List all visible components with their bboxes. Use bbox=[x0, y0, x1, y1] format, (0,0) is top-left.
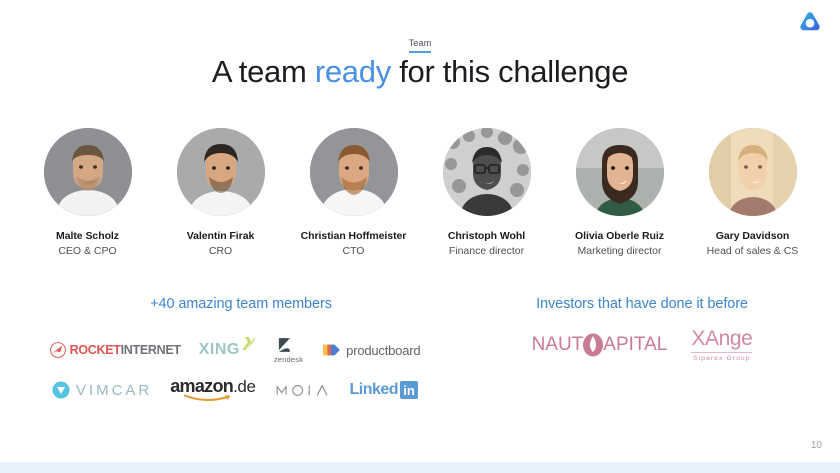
avatar-gary-davidson bbox=[709, 128, 797, 216]
page-title: A team ready for this challenge bbox=[0, 53, 840, 92]
amazon-label-b: .de bbox=[233, 377, 255, 396]
xing-logo-icon bbox=[241, 336, 256, 356]
lower-section: +40 amazing team members ROCKETINTERNET … bbox=[0, 296, 840, 410]
team-member-name: Malte Scholz bbox=[22, 229, 153, 243]
moia-logo-icon bbox=[274, 382, 332, 398]
slide-team: Team A team ready for this challenge Mal… bbox=[0, 0, 840, 473]
bottom-accent-band bbox=[0, 462, 840, 473]
logo-xange: XAnge Siparex Group bbox=[691, 328, 752, 362]
logo-linkedin: Linked in bbox=[350, 373, 419, 407]
eyebrow-wrapper: Team bbox=[0, 33, 840, 53]
headline-part-1: A team bbox=[212, 54, 315, 89]
avatar-christoph-wohl bbox=[443, 128, 531, 216]
investors-heading: Investors that have done it before bbox=[470, 296, 840, 312]
logo-amazon: amazon.de bbox=[170, 373, 255, 407]
rocket-internet-logo-icon bbox=[50, 342, 66, 358]
team-member-card: Gary Davidson Head of sales & CS bbox=[687, 128, 818, 258]
team-member-name: Gary Davidson bbox=[687, 229, 818, 243]
rocket-internet-label-b: INTERNET bbox=[121, 343, 181, 357]
team-member-card: Christoph Wohl Finance director bbox=[421, 128, 552, 258]
logo-zendesk: zendesk bbox=[274, 333, 303, 367]
team-member-role: Marketing director bbox=[554, 244, 685, 258]
logo-nauta-capital: NAUT APITAL bbox=[532, 333, 668, 357]
team-member-role: CTO bbox=[288, 244, 419, 258]
vimcar-label: VIMCAR bbox=[76, 382, 152, 399]
zendesk-label: zendesk bbox=[274, 355, 303, 364]
headline-part-2: for this challenge bbox=[391, 54, 628, 89]
avatar-olivia-oberle-ruiz bbox=[576, 128, 664, 216]
logo-xing: XING bbox=[199, 333, 256, 367]
team-member-name: Christoph Wohl bbox=[421, 229, 552, 243]
linkedin-label-a: Linked bbox=[350, 381, 399, 399]
logo-vimcar: VIMCAR bbox=[52, 373, 152, 407]
team-member-name: Christian Hoffmeister bbox=[288, 229, 419, 243]
linkedin-label-b: in bbox=[400, 381, 418, 399]
amazon-label-a: amazon bbox=[170, 376, 233, 396]
avatar-valentin-firak bbox=[177, 128, 265, 216]
zendesk-logo-icon bbox=[278, 337, 300, 354]
productboard-label: productboard bbox=[346, 343, 420, 358]
rocket-internet-label-a: ROCKET bbox=[70, 343, 121, 357]
triangle-circle-logo-icon bbox=[796, 8, 824, 36]
productboard-logo-icon bbox=[321, 342, 341, 358]
nauta-capital-label-a: NAUT bbox=[532, 334, 584, 356]
xing-label: XING bbox=[199, 341, 240, 359]
vimcar-logo-icon bbox=[52, 381, 70, 399]
nauta-capital-label-b: APITAL bbox=[603, 334, 667, 356]
team-members-column: +40 amazing team members ROCKETINTERNET … bbox=[0, 296, 470, 410]
team-member-card: Valentin Firak CRO bbox=[155, 128, 286, 258]
company-logo-grid: ROCKETINTERNET XING bbox=[0, 330, 470, 410]
headline-accent-word: ready bbox=[315, 54, 391, 89]
logo-productboard: productboard bbox=[321, 333, 420, 367]
team-member-role: Finance director bbox=[421, 244, 552, 258]
team-member-name: Olivia Oberle Ruiz bbox=[554, 229, 685, 243]
nauta-capital-mark-icon bbox=[582, 333, 604, 357]
investors-column: Investors that have done it before NAUT … bbox=[470, 296, 840, 410]
logo-rocket-internet: ROCKETINTERNET bbox=[50, 333, 181, 367]
team-member-row: Malte Scholz CEO & CPO Valentin Firak CR… bbox=[22, 128, 818, 258]
team-member-card: Christian Hoffmeister CTO bbox=[288, 128, 419, 258]
team-member-role: CRO bbox=[155, 244, 286, 258]
logo-moia bbox=[274, 373, 332, 407]
avatar-malte-scholz bbox=[44, 128, 132, 216]
team-member-card: Malte Scholz CEO & CPO bbox=[22, 128, 153, 258]
amazon-smile-icon bbox=[184, 394, 234, 403]
team-members-heading: +40 amazing team members bbox=[0, 296, 470, 312]
team-member-role: CEO & CPO bbox=[22, 244, 153, 258]
avatar-christian-hoffmeister bbox=[310, 128, 398, 216]
team-member-card: Olivia Oberle Ruiz Marketing director bbox=[554, 128, 685, 258]
investor-logo-grid: NAUT APITAL XAnge Siparex Group bbox=[470, 328, 840, 362]
xange-sublabel: Siparex Group bbox=[693, 355, 751, 362]
page-number: 10 bbox=[811, 440, 822, 451]
xange-label: XAnge bbox=[691, 328, 752, 349]
team-member-role: Head of sales & CS bbox=[687, 244, 818, 258]
team-member-name: Valentin Firak bbox=[155, 229, 286, 243]
eyebrow-label: Team bbox=[409, 38, 432, 53]
